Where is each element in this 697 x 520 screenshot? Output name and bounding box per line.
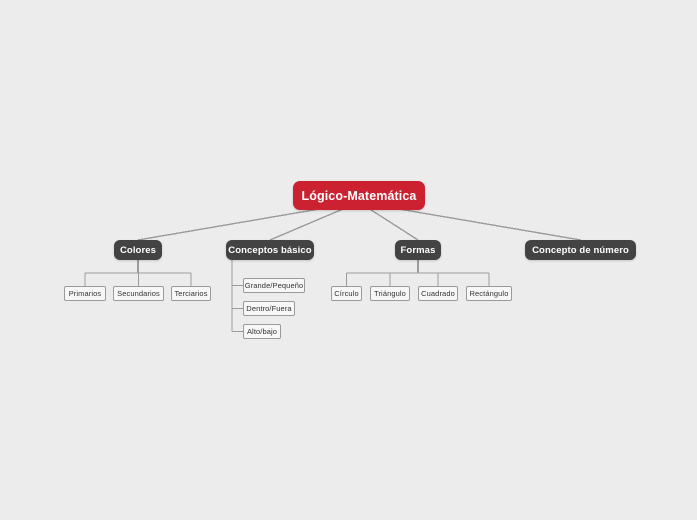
leaf-node-cuadrado[interactable]: Cuadrado — [418, 286, 458, 301]
leaf-node-cuadrado-label: Cuadrado — [421, 289, 455, 298]
branch-node-colores[interactable]: Colores — [114, 240, 162, 260]
leaf-node-secundarios-label: Secundarios — [117, 289, 160, 298]
branch-node-formas-label: Formas — [401, 245, 436, 256]
root-node-label: Lógico-Matemática — [302, 189, 417, 203]
mindmap-canvas: Lógico-MatemáticaColoresPrimariosSecunda… — [0, 0, 697, 520]
leaf-node-dentro-fuera[interactable]: Dentro/Fuera — [243, 301, 295, 316]
edge-layer — [0, 0, 697, 520]
branch-node-concepto-de-numero-label: Concepto de número — [532, 245, 629, 256]
leaf-node-secundarios[interactable]: Secundarios — [113, 286, 164, 301]
leaf-node-rectangulo[interactable]: Rectángulo — [466, 286, 512, 301]
leaf-node-alto-bajo[interactable]: Alto/bajo — [243, 324, 281, 339]
leaf-node-terciarios-label: Terciarios — [174, 289, 207, 298]
edge-root-to-formas — [370, 209, 418, 240]
branch-node-concepto-de-numero[interactable]: Concepto de número — [525, 240, 636, 260]
leaf-node-triangulo[interactable]: Triángulo — [370, 286, 410, 301]
leaf-node-triangulo-label: Triángulo — [374, 289, 406, 298]
branch-node-conceptos-basico[interactable]: Conceptos básico — [226, 240, 314, 260]
leaf-node-terciarios[interactable]: Terciarios — [171, 286, 211, 301]
branch-node-formas[interactable]: Formas — [395, 240, 441, 260]
leaf-node-primarios[interactable]: Primarios — [64, 286, 106, 301]
leaf-node-primarios-label: Primarios — [69, 289, 102, 298]
leaf-node-dentro-fuera-label: Dentro/Fuera — [246, 304, 291, 313]
leaf-node-rectangulo-label: Rectángulo — [470, 289, 509, 298]
leaf-node-alto-bajo-label: Alto/bajo — [247, 327, 277, 336]
branch-node-colores-label: Colores — [120, 245, 156, 256]
edge-root-to-conceptos-basico — [270, 209, 343, 240]
edge-root-to-concepto-de-numero — [399, 209, 581, 240]
branch-node-conceptos-basico-label: Conceptos básico — [228, 245, 311, 256]
edge-root-to-colores — [138, 209, 319, 240]
leaf-node-circulo[interactable]: Círculo — [331, 286, 362, 301]
root-node[interactable]: Lógico-Matemática — [293, 181, 425, 210]
leaf-node-grande-pequeno[interactable]: Grande/Pequeño — [243, 278, 305, 293]
leaf-node-circulo-label: Círculo — [334, 289, 358, 298]
leaf-node-grande-pequeno-label: Grande/Pequeño — [245, 281, 304, 290]
